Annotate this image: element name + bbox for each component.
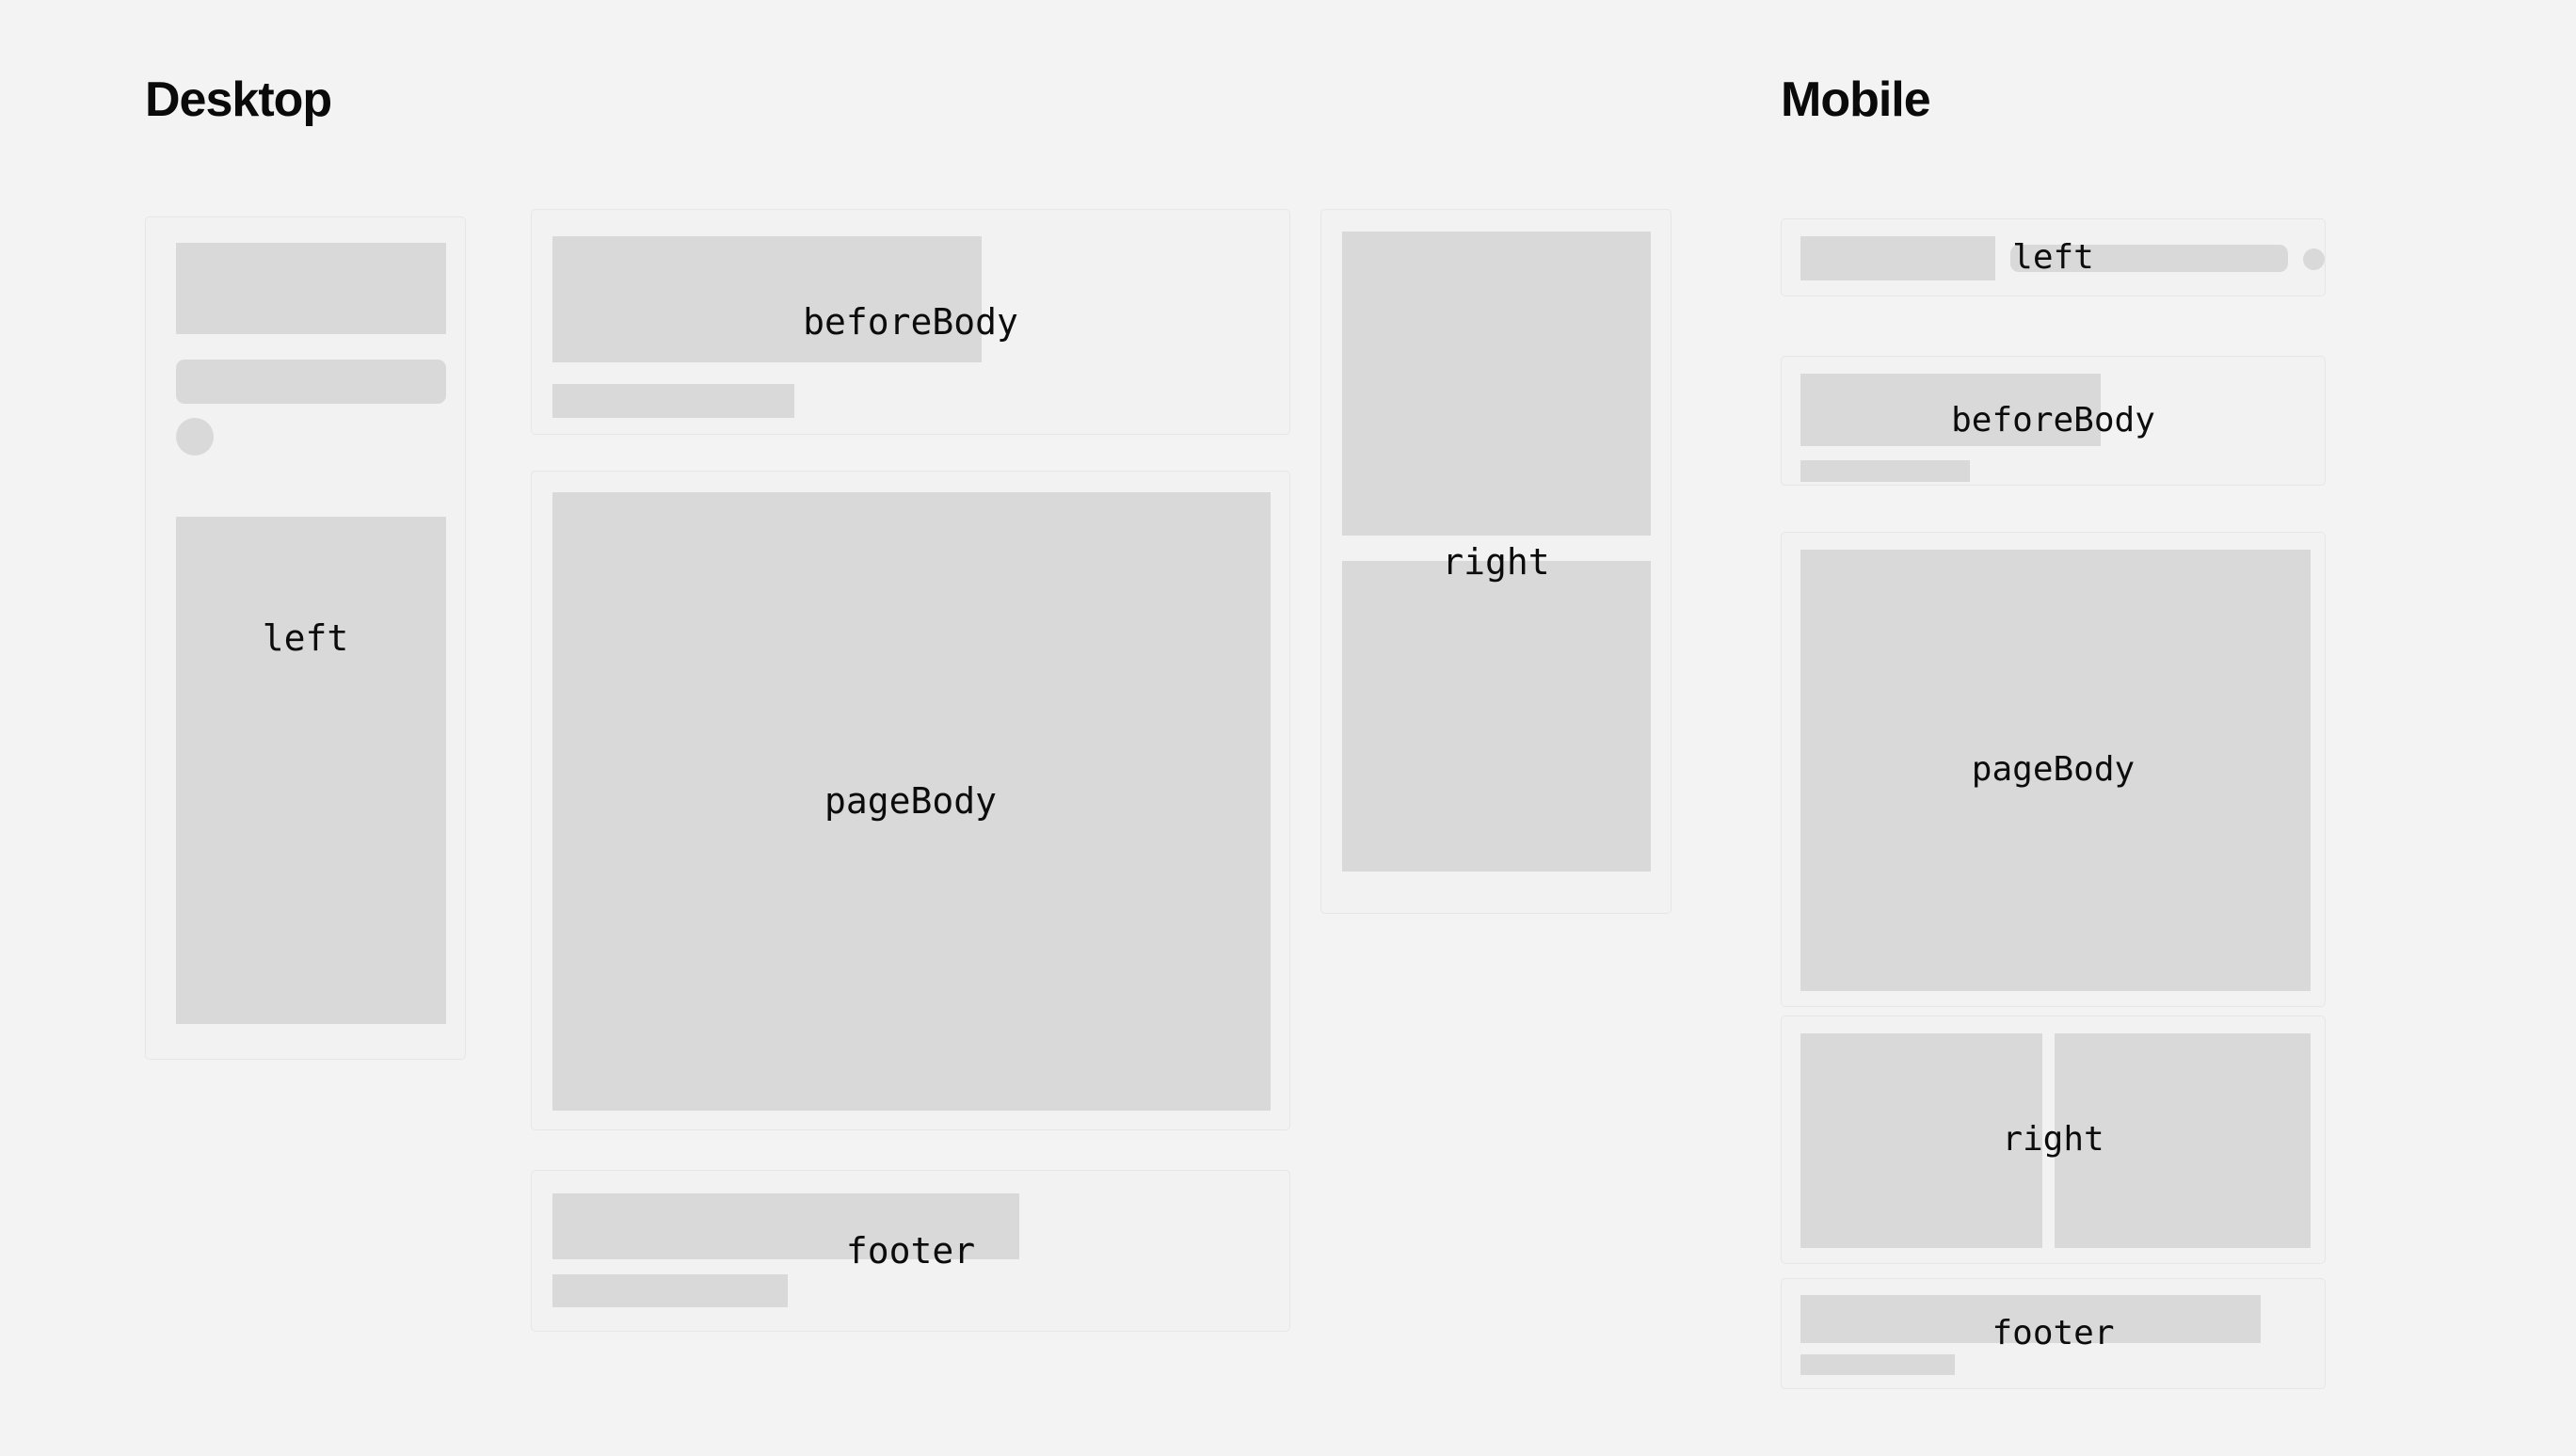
desktop-slot-page-body[interactable]: pageBody bbox=[531, 471, 1290, 1130]
placeholder-block bbox=[1342, 561, 1651, 872]
placeholder-block bbox=[552, 236, 982, 362]
desktop-slot-left[interactable]: left bbox=[145, 216, 466, 1060]
mobile-slot-left[interactable]: left bbox=[1781, 218, 2326, 296]
placeholder-block bbox=[1800, 1354, 1955, 1375]
mobile-slot-footer[interactable]: footer bbox=[1781, 1278, 2326, 1389]
placeholder-block bbox=[552, 1193, 1019, 1259]
placeholder-block bbox=[1800, 550, 2311, 991]
placeholder-block bbox=[1800, 1295, 2261, 1343]
placeholder-block bbox=[2055, 1033, 2311, 1248]
placeholder-block bbox=[2010, 245, 2288, 272]
placeholder-block bbox=[1800, 374, 2101, 446]
placeholder-block bbox=[1342, 232, 1651, 536]
desktop-section-heading: Desktop bbox=[145, 75, 331, 124]
placeholder-block bbox=[1800, 236, 1995, 280]
mobile-slot-before-body[interactable]: beforeBody bbox=[1781, 356, 2326, 486]
desktop-slot-before-body[interactable]: beforeBody bbox=[531, 209, 1290, 435]
desktop-slot-footer[interactable]: footer bbox=[531, 1170, 1290, 1332]
mobile-slot-right[interactable]: right bbox=[1781, 1016, 2326, 1264]
placeholder-block bbox=[176, 360, 446, 404]
placeholder-block bbox=[1800, 460, 1970, 482]
placeholder-avatar-circle bbox=[2303, 248, 2325, 270]
placeholder-block bbox=[1800, 1033, 2042, 1248]
placeholder-block bbox=[176, 243, 446, 334]
placeholder-avatar-circle bbox=[176, 418, 214, 456]
placeholder-block bbox=[552, 1274, 788, 1307]
placeholder-block bbox=[176, 517, 446, 1024]
placeholder-block bbox=[552, 384, 794, 418]
placeholder-block bbox=[552, 492, 1271, 1111]
mobile-slot-page-body[interactable]: pageBody bbox=[1781, 532, 2326, 1007]
desktop-slot-right[interactable]: right bbox=[1320, 209, 1672, 914]
mobile-section-heading: Mobile bbox=[1781, 75, 1930, 124]
